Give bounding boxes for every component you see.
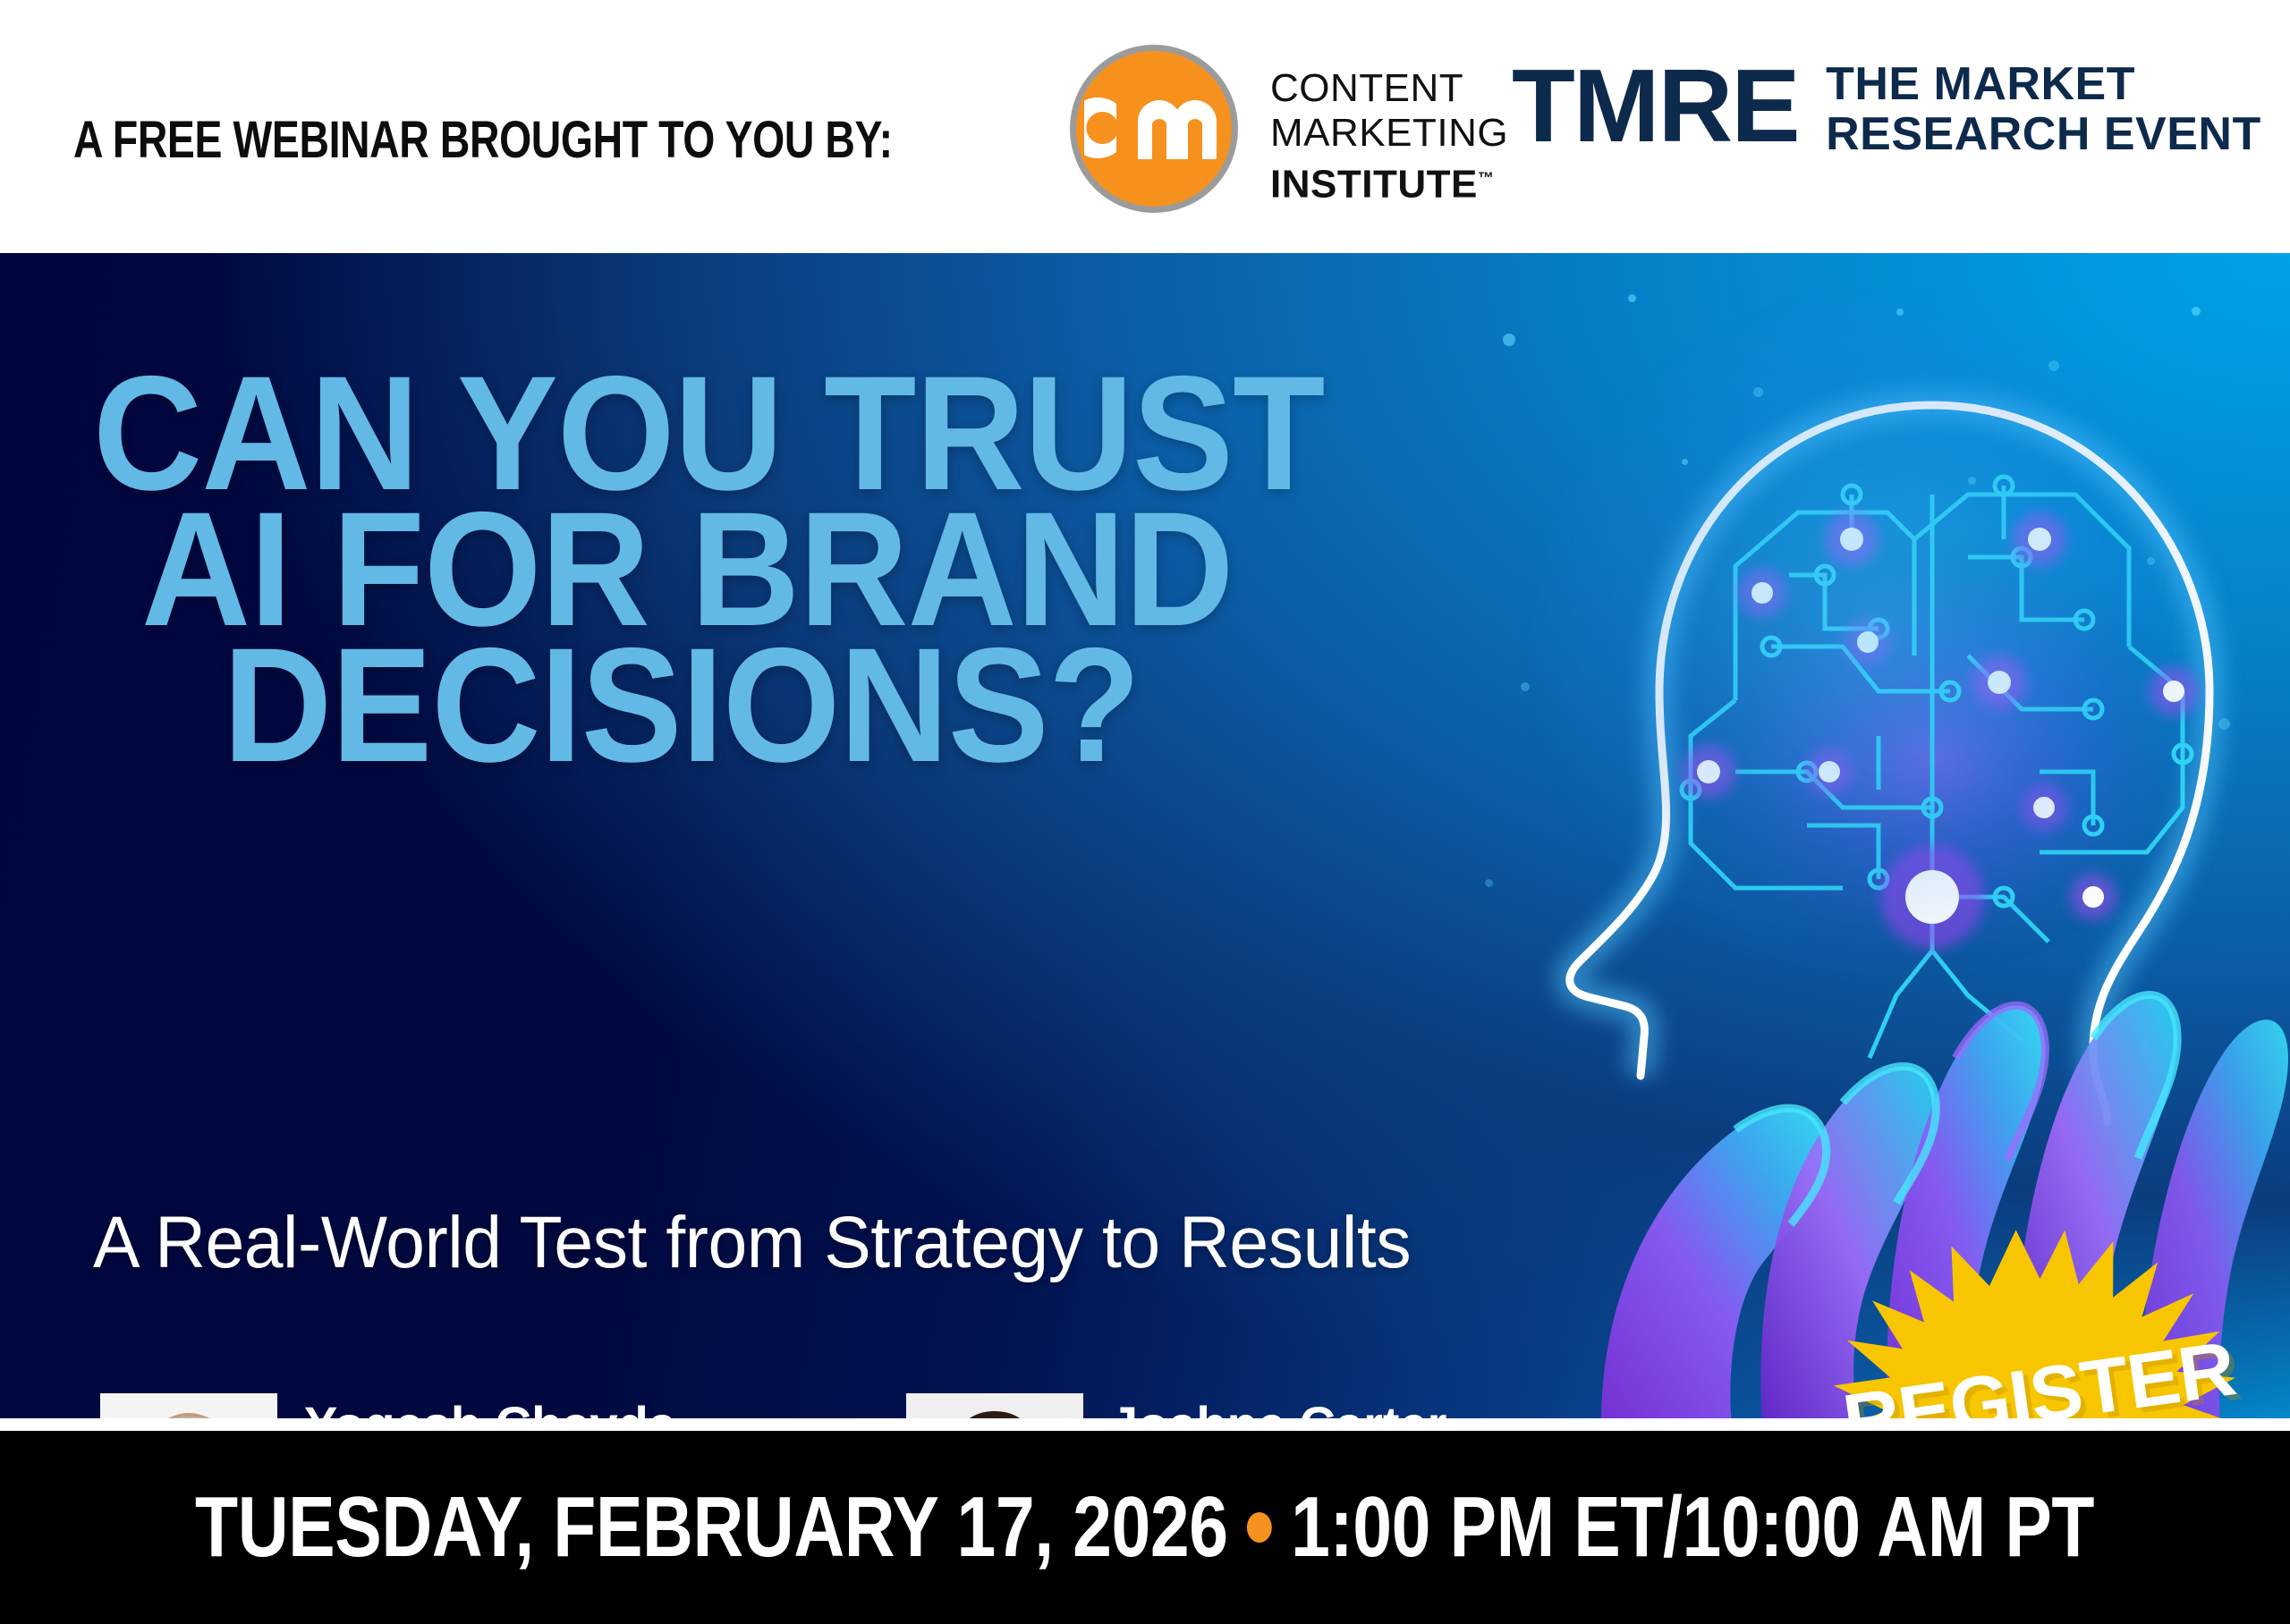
bullet-separator-icon	[1247, 1512, 1272, 1543]
cmi-wordmark: CONTENT MARKETING INSTITUTE™	[1270, 66, 1508, 207]
tmre-logo: TMRE THE MARKET RESEARCH EVENT	[1512, 54, 2261, 159]
cmi-monogram-icon	[1084, 59, 1224, 199]
header-kicker-text: A FREE WEBINAR BROUGHT TO YOU BY:	[73, 110, 893, 170]
footer-bar: TUESDAY, FEBRUARY 17, 2026 1:00 PM ET/10…	[0, 1431, 2290, 1624]
tmre-tagline-line1: THE MARKET	[1826, 59, 2261, 109]
cmi-word-content: CONTENT	[1270, 66, 1508, 111]
trademark-icon: ™	[1478, 169, 1495, 187]
cmi-word-institute: INSTITUTE	[1270, 163, 1478, 207]
cmi-word-institute-line: INSTITUTE™	[1270, 156, 1508, 207]
event-time: 1:00 PM ET/10:00 AM PT	[1292, 1478, 2095, 1577]
tmre-tagline: THE MARKET RESEARCH EVENT	[1826, 59, 2261, 159]
header-bar: A FREE WEBINAR BROUGHT TO YOU BY: CONTEN…	[0, 0, 2290, 253]
hero-title: CAN YOU TRUST AI FOR BRAND DECISIONS?	[93, 365, 1417, 773]
content-marketing-institute-logo	[1070, 45, 1238, 213]
tmre-tagline-line2: RESEARCH EVENT	[1826, 109, 2261, 159]
hero-title-line-3: DECISIONS?	[93, 637, 1325, 773]
head-glow	[1530, 298, 2227, 1013]
event-datetime: TUESDAY, FEBRUARY 17, 2026 1:00 PM ET/10…	[195, 1478, 2094, 1577]
hero-subtitle: A Real-World Test from Strategy to Resul…	[93, 1201, 1411, 1285]
cmi-word-marketing: MARKETING	[1270, 111, 1508, 156]
hero-section: CAN YOU TRUST AI FOR BRAND DECISIONS? A …	[0, 253, 2290, 1422]
event-date: TUESDAY, FEBRUARY 17, 2026	[195, 1478, 1228, 1577]
webinar-promo-banner: A FREE WEBINAR BROUGHT TO YOU BY: CONTEN…	[0, 0, 2290, 1624]
section-divider	[0, 1418, 2290, 1431]
tmre-wordmark: TMRE	[1512, 54, 1799, 157]
